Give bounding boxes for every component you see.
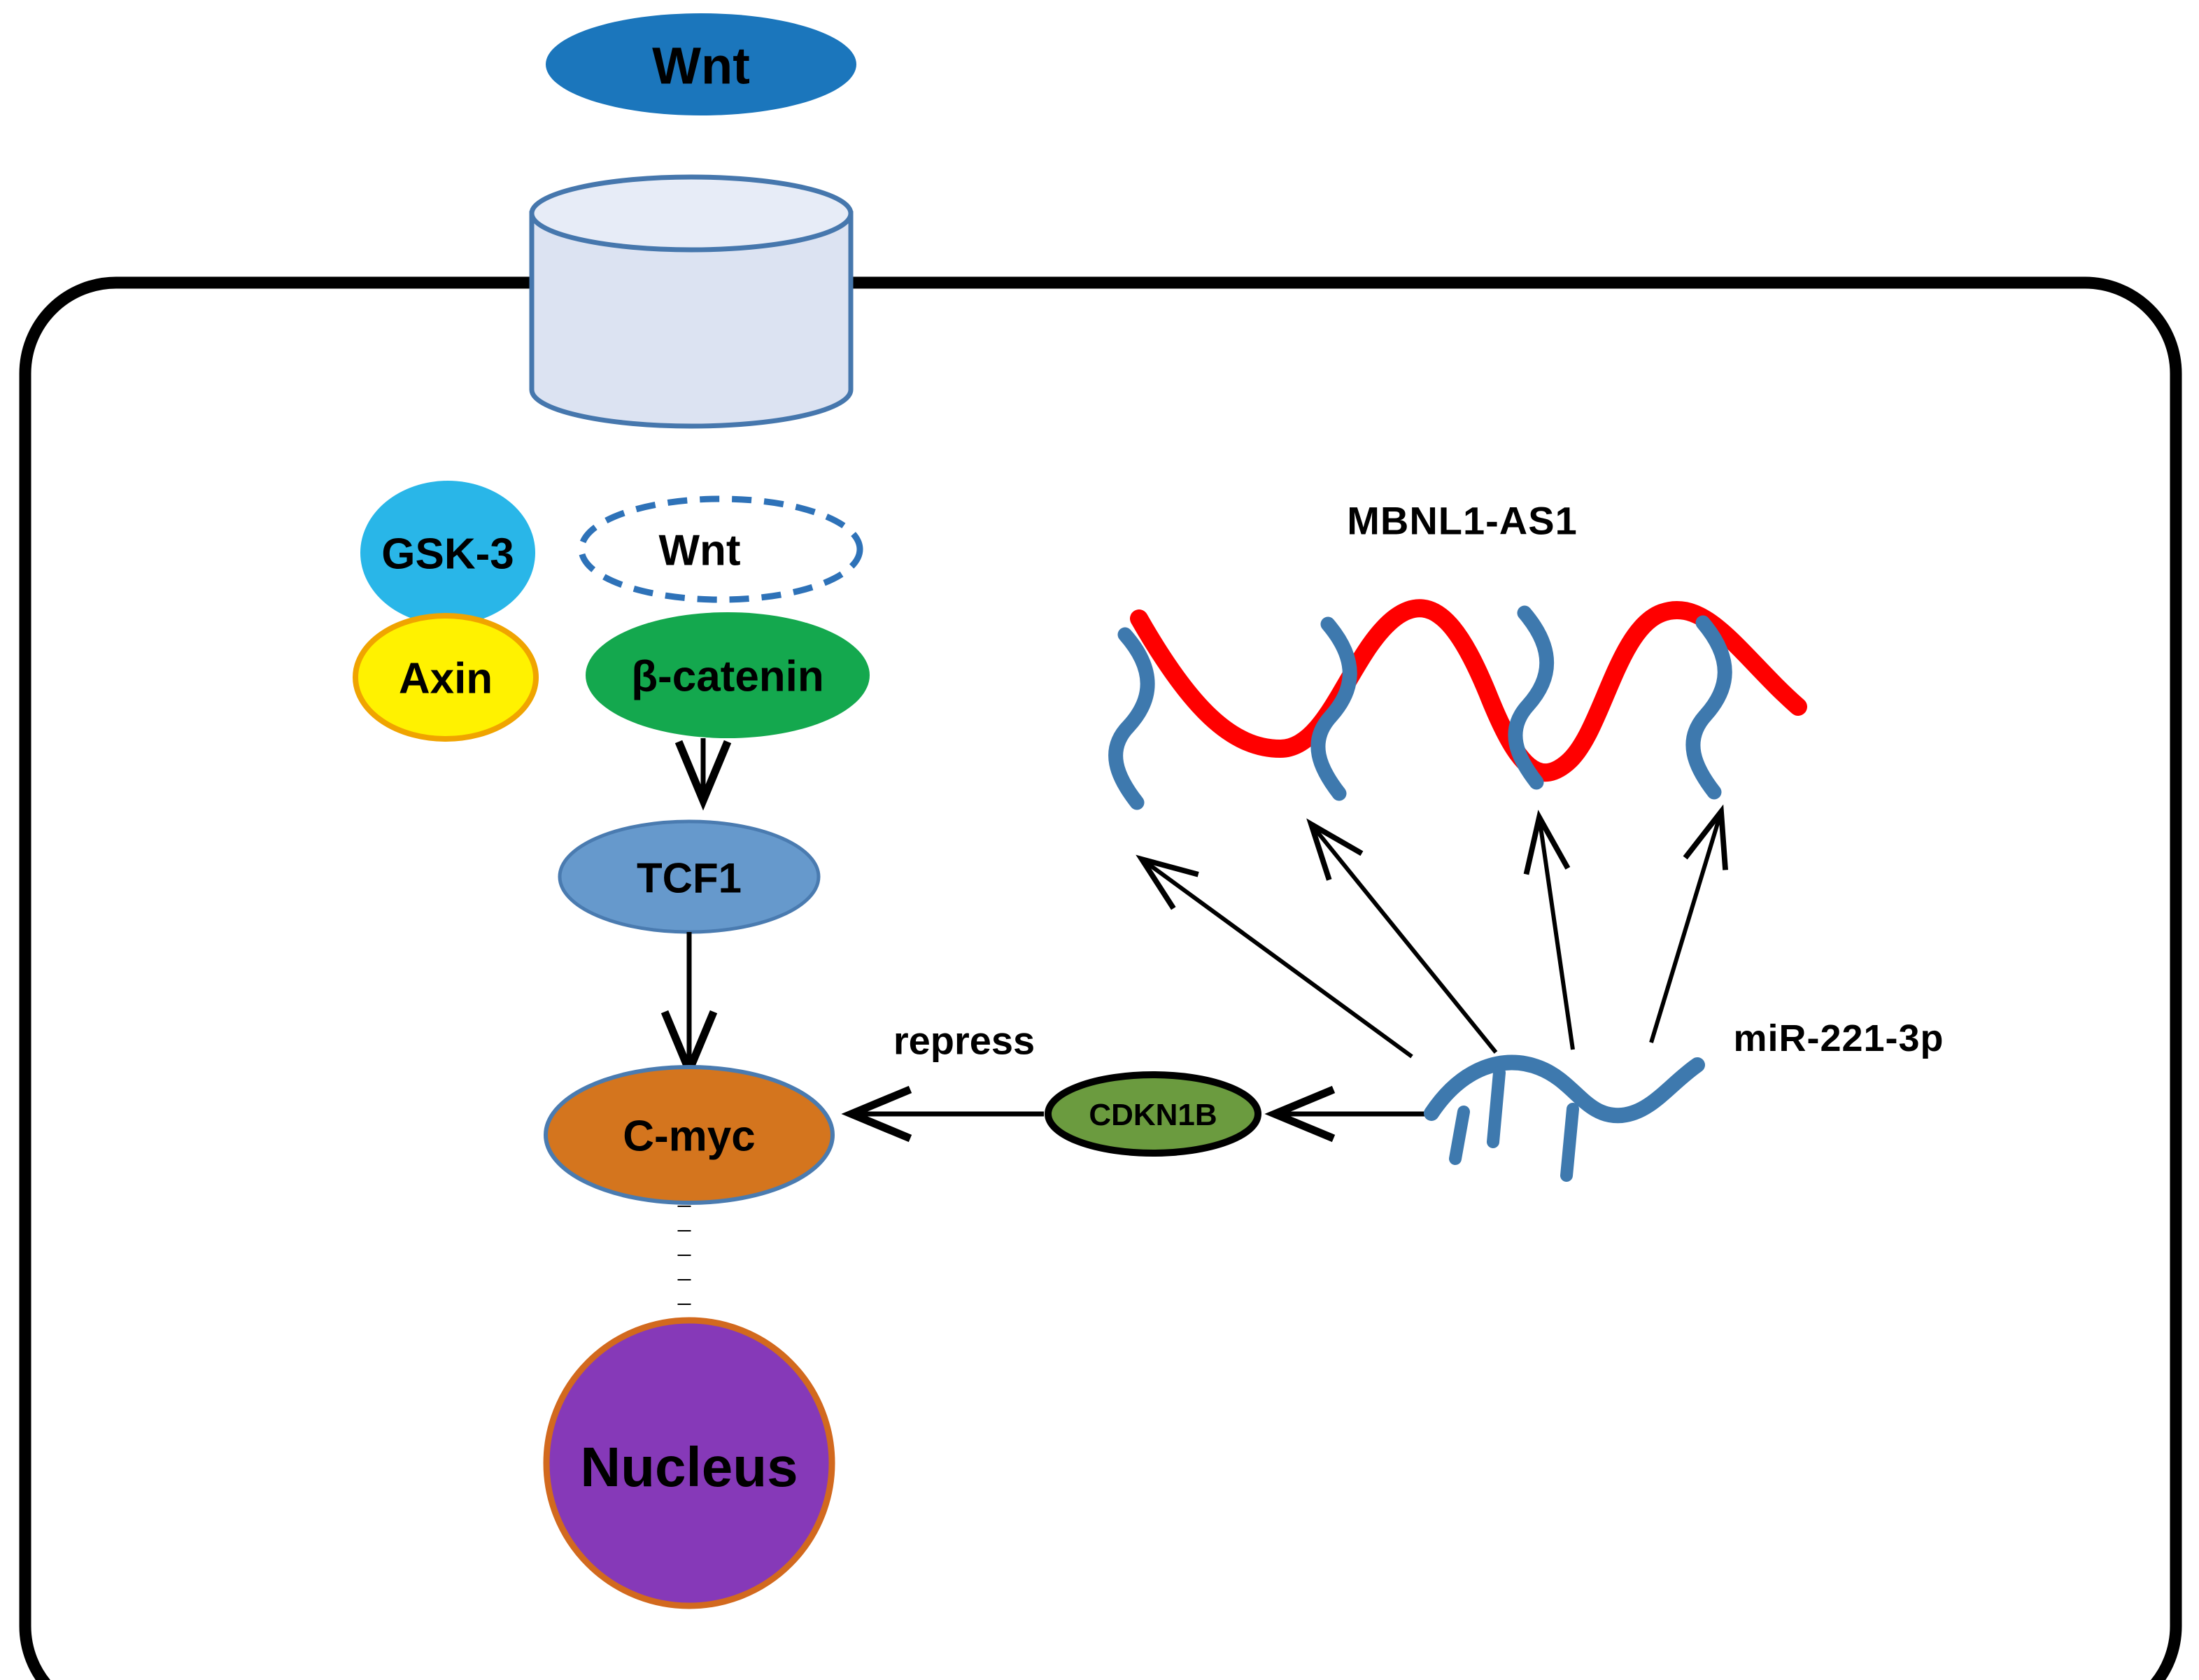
mir-221-3p-molecule[interactable] [1431,1062,1697,1176]
mir-to-mbnl-arrow-group [1142,812,1721,1057]
receptor-cylinder [532,177,851,426]
mir-221-3p-backbone [1431,1062,1697,1115]
mir-tick-1 [1455,1112,1464,1159]
mir-tick-2 [1493,1073,1499,1142]
cmyc-node[interactable] [546,1067,833,1203]
diagram-canvas [0,0,2199,1680]
wnt-extracellular-node[interactable] [546,13,856,115]
gsk3-node[interactable] [360,481,535,625]
tcf1-node[interactable] [560,821,819,932]
wnt-dashed-node[interactable] [581,499,860,600]
mirna-strand-1 [1116,635,1148,803]
mir-tick-3 [1567,1109,1573,1176]
arrow-mir-to-strand-2 [1311,824,1496,1052]
axin-node[interactable] [355,616,536,739]
arrow-mir-to-strand-4 [1651,812,1721,1043]
pathway-diagram: Wnt GSK-3 Wnt Axin β-catenin TCF1 C-myc … [0,0,2199,1680]
mirna-strand-4 [1693,623,1725,792]
arrow-mir-to-strand-3 [1539,817,1573,1050]
cdkn1b-node[interactable] [1048,1075,1258,1153]
cell-membrane [25,283,2176,1680]
beta-catenin-node[interactable] [586,612,870,738]
nucleus-node[interactable] [546,1320,832,1606]
arrow-mir-to-strand-1 [1142,859,1412,1057]
